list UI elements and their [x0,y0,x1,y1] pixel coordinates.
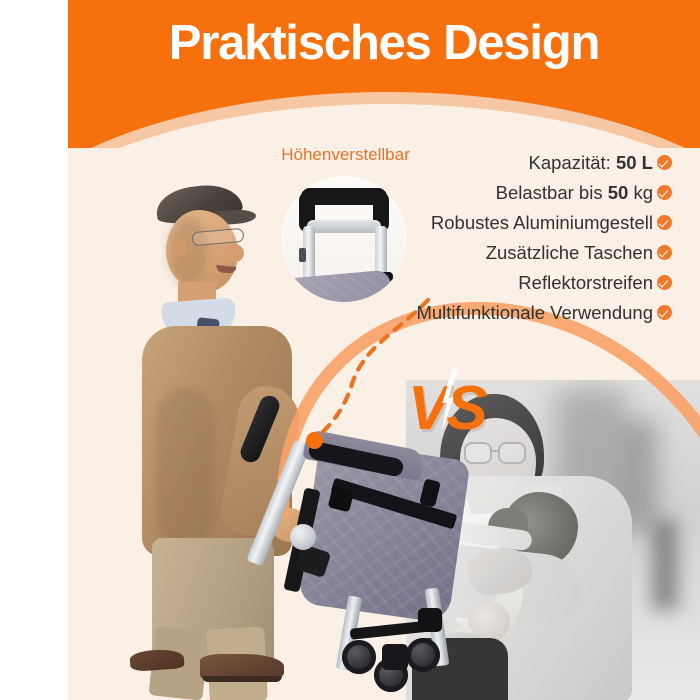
check-icon [657,215,672,230]
trolley-adjust-knob [290,524,316,550]
man-ear [172,238,187,257]
feature-label: Reflektorstreifen [518,270,653,295]
feature-label: Zusätzliche Taschen [486,240,653,265]
feature-label: Belastbar bis 50 kg [496,180,653,205]
check-icon [657,305,672,320]
wheel-two [406,638,440,672]
check-icon [657,275,672,290]
tri-star-wheel-cluster [342,636,458,692]
feature-item-multifunction: Multifunktionale Verwendung [312,300,672,325]
feature-item-frame: Robustes Aluminiumgestell [312,210,672,235]
feature-label: Robustes Aluminiumgestell [431,210,653,235]
sweater-fold [156,388,214,548]
feature-list: Kapazität: 50 L Belastbar bis 50 kg Robu… [312,150,672,330]
connector-endpoint-dot [306,432,323,449]
check-icon [657,245,672,260]
feature-item-reflectors: Reflektorstreifen [312,270,672,295]
height-adjust-clip [299,248,306,262]
back-shoe [129,648,184,672]
check-icon [657,155,672,170]
wheel-hub-center [382,644,408,670]
header-banner: Praktisches Design [68,0,700,148]
feature-item-capacity: Kapazität: 50 L [312,150,672,175]
content-panel: Praktisches Design [68,0,700,700]
feature-item-load: Belastbar bis 50 kg [312,180,672,205]
page-title: Praktisches Design [68,14,700,72]
feature-item-pockets: Zusätzliche Taschen [312,240,672,265]
check-icon [657,185,672,200]
man-nose [226,244,244,262]
trolley-axle-hub [418,608,442,632]
product-infographic: Praktisches Design [0,0,700,700]
wheel-one [342,640,376,674]
feature-label: Multifunktionale Verwendung [416,300,653,325]
feature-label: Kapazität: 50 L [529,150,653,175]
